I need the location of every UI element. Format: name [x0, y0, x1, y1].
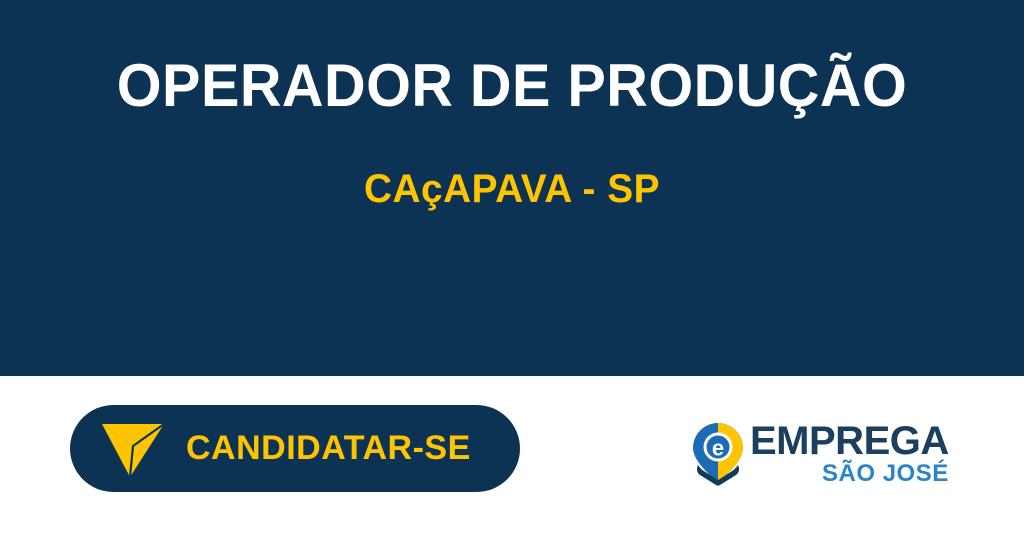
apply-button[interactable]: CANDIDATAR-SE: [70, 405, 520, 492]
job-posting-card: OPERADOR DE PRODUÇÃO CAçAPAVA - SP CANDI…: [0, 0, 1024, 538]
hero-banner: OPERADOR DE PRODUÇÃO CAçAPAVA - SP: [0, 0, 1024, 376]
svg-text:e: e: [712, 436, 724, 461]
send-paper-plane-icon: [100, 416, 166, 482]
job-location: CAçAPAVA - SP: [15, 166, 1008, 212]
brand-name: EMPREGA: [750, 422, 949, 460]
brand-logo[interactable]: e EMPREGA SÃO JOSÉ: [692, 418, 922, 494]
job-title: OPERADOR DE PRODUÇÃO: [20, 52, 1003, 120]
brand-city: SÃO JOSÉ: [822, 461, 949, 487]
brand-wordmark: EMPREGA SÃO JOSÉ: [750, 418, 949, 487]
apply-button-label: CANDIDATAR-SE: [186, 429, 471, 468]
map-pin-e-icon: e: [692, 422, 744, 488]
